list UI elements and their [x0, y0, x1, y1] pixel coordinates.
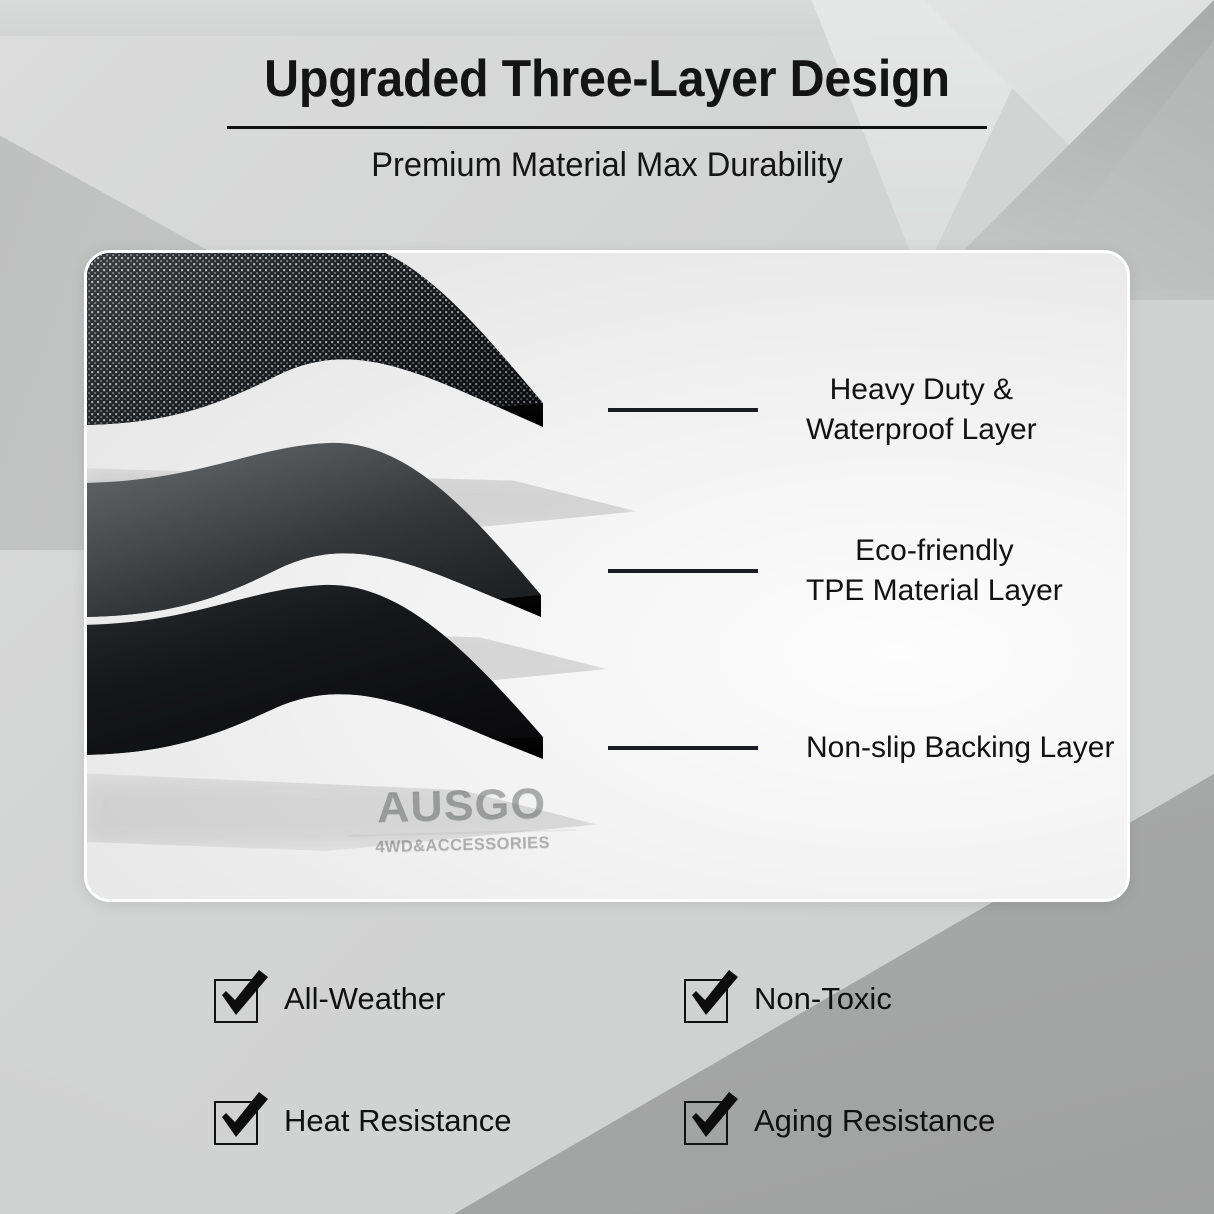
- checkbox-checked-icon: [214, 1097, 262, 1145]
- callout-leader-line: [608, 746, 758, 750]
- title-divider: [227, 126, 987, 129]
- feature-label: All-Weather: [284, 981, 445, 1017]
- callout-heavy-duty-waterproof: Heavy Duty & Waterproof Layer: [608, 370, 1037, 450]
- feature-label: Non-Toxic: [754, 981, 892, 1017]
- callout-label: Eco-friendly TPE Material Layer: [806, 531, 1063, 611]
- callout-non-slip-backing: Non-slip Backing Layer: [608, 728, 1114, 768]
- feature-item-all-weather: All-Weather: [214, 975, 684, 1023]
- feature-list: All-Weather Non-Toxic Heat Resistance: [214, 975, 1074, 1145]
- product-illustration-card: AUSGO 4WD&ACCESSORIES: [84, 250, 1130, 902]
- card-inner: AUSGO 4WD&ACCESSORIES: [87, 253, 1127, 899]
- callout-leader-line: [608, 408, 758, 412]
- callout-leader-line: [608, 569, 758, 573]
- checkbox-checked-icon: [214, 975, 262, 1023]
- infographic-root: Upgraded Three-Layer Design Premium Mate…: [0, 0, 1214, 1214]
- callout-label: Non-slip Backing Layer: [806, 728, 1114, 768]
- feature-item-non-toxic: Non-Toxic: [684, 975, 1074, 1023]
- checkbox-checked-icon: [684, 975, 732, 1023]
- header: Upgraded Three-Layer Design Premium Mate…: [0, 52, 1214, 185]
- callout-tpe-material: Eco-friendly TPE Material Layer: [608, 531, 1063, 611]
- feature-item-heat-resistance: Heat Resistance: [214, 1097, 684, 1145]
- callout-label: Heavy Duty & Waterproof Layer: [806, 370, 1037, 450]
- feature-label: Heat Resistance: [284, 1103, 511, 1139]
- checkbox-checked-icon: [684, 1097, 732, 1145]
- feature-item-aging-resistance: Aging Resistance: [684, 1097, 1074, 1145]
- page-subtitle: Premium Material Max Durability: [24, 146, 1189, 185]
- page-title: Upgraded Three-Layer Design: [42, 52, 1171, 107]
- feature-label: Aging Resistance: [754, 1103, 995, 1139]
- mat-layer-heavy-duty-waterproof: [84, 250, 633, 519]
